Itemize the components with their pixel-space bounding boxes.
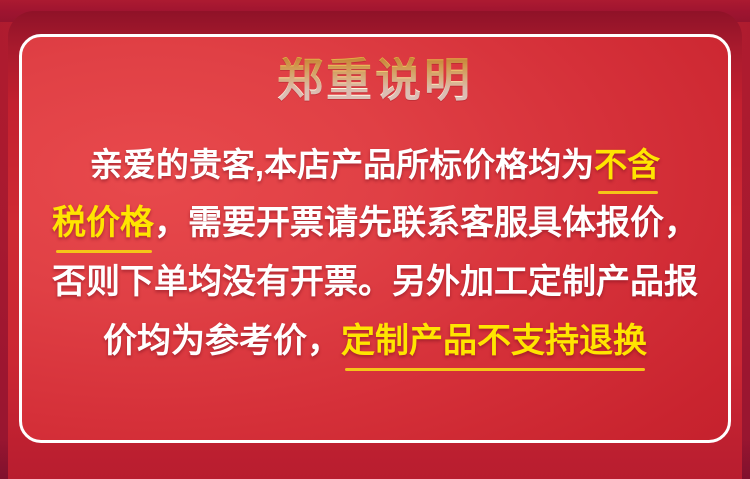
notice-line-3-segment-white: 否则下单均没有开票。另外加工定制产品报 [52,263,698,301]
page-title: 郑重说明 [22,57,728,103]
notice-line-4-segment-white: 价均为参考价， [103,322,341,360]
notice-line-2: 税价格，需要开票请先联系客服具体报价， [36,194,714,253]
notice-line-2-segment-highlight: 税价格 [52,204,154,242]
notice-banner: 郑重说明 亲爱的贵客,本店产品所标价格均为不含 税价格，需要开票请先联系客服具体… [0,0,750,479]
notice-line-1-segment-white: 亲爱的贵客,本店产品所标价格均为 [90,146,594,183]
notice-body: 亲爱的贵客,本店产品所标价格均为不含 税价格，需要开票请先联系客服具体报价， 否… [36,135,714,371]
notice-line-4: 价均为参考价，定制产品不支持退换 [36,312,714,371]
notice-line-3: 否则下单均没有开票。另外加工定制产品报 [36,253,714,312]
notice-line-1: 亲爱的贵客,本店产品所标价格均为不含 [36,135,714,194]
notice-line-1-segment-highlight: 不含 [594,146,660,183]
white-bordered-card: 郑重说明 亲爱的贵客,本店产品所标价格均为不含 税价格，需要开票请先联系客服具体… [19,34,731,443]
notice-line-2-segment-white: ，需要开票请先联系客服具体报价， [154,204,698,242]
notice-line-4-segment-highlight: 定制产品不支持退换 [341,322,647,360]
